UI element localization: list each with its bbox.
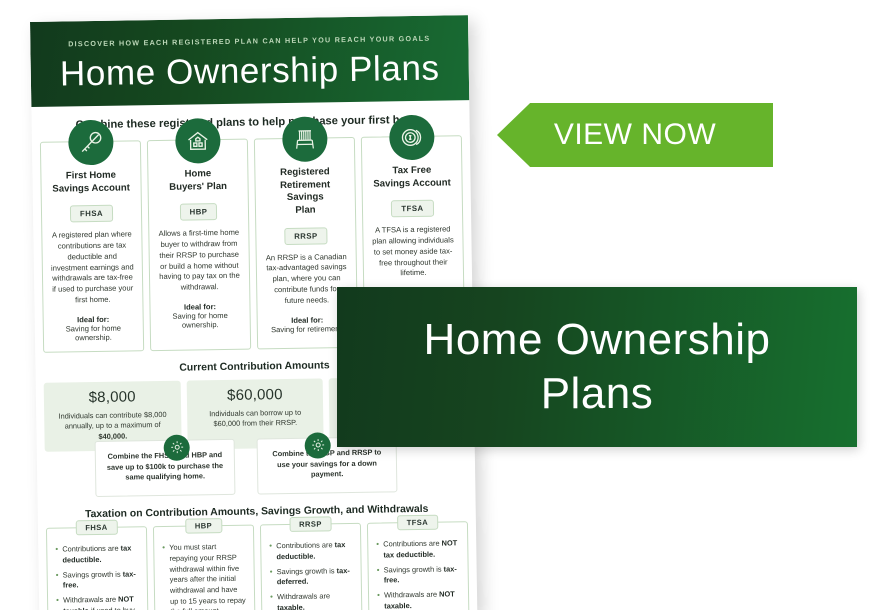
list-item: Contributions are NOT tax deductible. <box>376 538 459 561</box>
taxation-card-hbp[interactable]: HBP You must start repaying your RRSP wi… <box>153 525 256 610</box>
dollar-coin-icon <box>389 115 435 161</box>
contribution-text: Individuals can contribute $8,000 annual… <box>52 410 173 443</box>
bullet-pre: Withdrawals are <box>384 590 439 600</box>
ideal-for-value: Saving for home ownership. <box>158 311 243 330</box>
taxation-card-fhsa[interactable]: FHSA Contributions are tax deductible. S… <box>46 526 149 610</box>
taxation-bullet-list: Contributions are tax deductible. Saving… <box>269 540 353 610</box>
flyer-title: Home Ownership Plans <box>49 48 452 94</box>
bullet-pre: Withdrawals are <box>63 595 118 605</box>
plan-description: A TFSA is a registered plan allowing ind… <box>370 225 456 280</box>
contribution-text: Individuals can borrow up to $60,000 fro… <box>195 407 316 430</box>
list-item: You must start repaying your RRSP withdr… <box>162 542 246 610</box>
bullet-pre: Savings growth is <box>63 569 123 579</box>
list-item: Savings growth is tax-free. <box>56 569 139 592</box>
taxation-tag: TFSA <box>397 515 439 531</box>
taxation-tag: FHSA <box>75 520 118 536</box>
bullet-pre: You must start repaying your RRSP withdr… <box>169 542 246 610</box>
contribution-text-bold: $40,000. <box>98 431 127 440</box>
bullet-pre: Contributions are <box>62 544 120 554</box>
overlay-title-panel: Home Ownership Plans <box>337 287 857 447</box>
plan-card-fhsa[interactable]: First HomeSavings Account FHSA A registe… <box>40 140 144 352</box>
plan-tag: HBP <box>179 203 217 221</box>
plan-tag: TFSA <box>391 200 433 218</box>
list-item: Contributions are tax deductible. <box>269 540 352 563</box>
house-icon <box>175 118 221 164</box>
taxation-card-tfsa[interactable]: TFSA Contributions are NOT tax deductibl… <box>367 521 470 610</box>
ideal-for-value: Saving for home ownership. <box>51 323 136 342</box>
contribution-amount: $8,000 <box>52 388 173 407</box>
plan-tag: FHSA <box>70 205 113 223</box>
gear-icon <box>304 432 330 458</box>
taxation-tag: HBP <box>185 518 222 534</box>
flyer-header: DISCOVER HOW EACH REGISTERED PLAN CAN HE… <box>30 15 469 107</box>
plan-name: HomeBuyers' Plan <box>155 168 240 195</box>
plan-name: RegisteredRetirement SavingsPlan <box>262 166 348 218</box>
plan-name: First HomeSavings Account <box>48 169 133 196</box>
overlay-title-line1: Home Ownership <box>424 313 771 367</box>
flyer-kicker: DISCOVER HOW EACH REGISTERED PLAN CAN HE… <box>48 33 450 48</box>
taxation-bullet-list: You must start repaying your RRSP withdr… <box>162 542 247 610</box>
view-now-button[interactable]: VIEW NOW <box>497 103 773 167</box>
chair-icon <box>282 116 328 162</box>
taxation-bullet-list: Contributions are tax deductible. Saving… <box>55 543 139 610</box>
overlay-title-line2: Plans <box>424 367 771 421</box>
overlay-title-text: Home Ownership Plans <box>424 313 771 420</box>
key-icon <box>68 120 114 166</box>
plan-description: A registered plan where contributions ar… <box>49 230 135 307</box>
bullet-pre: Savings growth is <box>384 564 444 574</box>
bullet-pre: Savings growth is <box>277 566 337 576</box>
plan-name: Tax FreeSavings Account <box>369 164 454 191</box>
taxation-tag: RRSP <box>289 516 332 532</box>
list-item: Withdrawals are taxable. <box>270 591 353 610</box>
bullet-bold: taxable. <box>277 602 305 610</box>
list-item: Withdrawals are NOT taxable if used to b… <box>56 594 139 610</box>
taxation-cards-row: FHSA Contributions are tax deductible. S… <box>38 521 477 610</box>
screenshot-canvas: DISCOVER HOW EACH REGISTERED PLAN CAN HE… <box>0 0 893 610</box>
contribution-text-a: Individuals can contribute $8,000 annual… <box>58 410 166 431</box>
plan-tag: RRSP <box>284 227 328 245</box>
list-item: Contributions are tax deductible. <box>55 543 138 566</box>
gear-icon <box>163 434 189 460</box>
view-now-label: VIEW NOW <box>554 118 716 152</box>
list-item: Savings growth is tax-deferred. <box>270 566 353 589</box>
list-item: Withdrawals are NOT taxable. <box>377 589 460 610</box>
taxation-card-rrsp[interactable]: RRSP Contributions are tax deductible. S… <box>260 523 363 610</box>
bullet-pre: Withdrawals are <box>277 591 330 601</box>
taxation-bullet-list: Contributions are NOT tax deductible. Sa… <box>376 538 460 610</box>
list-item: Savings growth is tax-free. <box>377 564 460 587</box>
bullet-pre: Contributions are <box>276 540 334 550</box>
plan-description: Allows a first-time home buyer to withdr… <box>156 228 242 294</box>
plan-card-hbp[interactable]: HomeBuyers' Plan HBP Allows a first-time… <box>147 139 251 351</box>
contribution-amount: $60,000 <box>194 385 315 404</box>
bullet-pre: Contributions are <box>383 539 441 549</box>
